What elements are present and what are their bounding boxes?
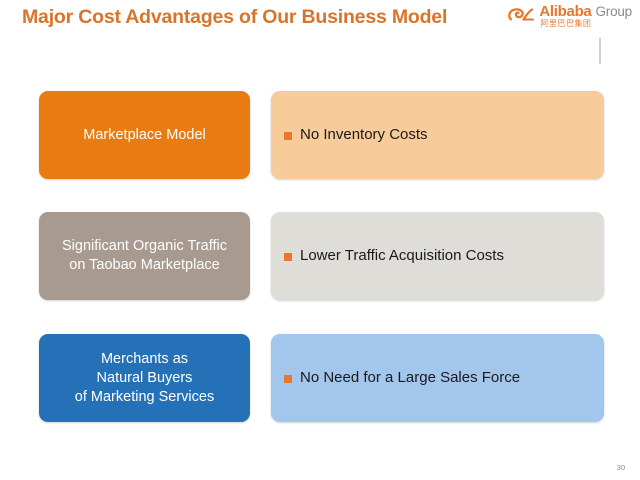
category-box-marketplace-model: Marketplace Model [39,91,250,179]
alibaba-group-logo: Alibaba Group 阿里巴巴集团 [507,4,632,34]
advantage-row: Significant Organic Traffic on Taobao Ma… [0,212,640,300]
slide: Major Cost Advantages of Our Business Mo… [0,0,640,480]
category-label: Significant Organic Traffic on Taobao Ma… [62,237,227,275]
logo-suffix-text: Group [595,5,632,19]
category-box-organic-traffic: Significant Organic Traffic on Taobao Ma… [39,212,250,300]
advantage-row: Merchants as Natural Buyers of Marketing… [0,334,640,422]
logo-brand-text: Alibaba [539,4,591,19]
benefit-label: No Need for a Large Sales Force [300,369,520,387]
category-label: Merchants as Natural Buyers of Marketing… [75,350,214,407]
square-bullet-icon [284,375,292,383]
square-bullet-icon [284,132,292,140]
logo-chinese-text: 阿里巴巴集团 [540,20,632,28]
alibaba-swirl-icon [507,4,537,26]
header-divider-tick [599,38,601,64]
category-box-merchants-natural-buyers: Merchants as Natural Buyers of Marketing… [39,334,250,422]
category-label: Marketplace Model [83,126,206,145]
benefit-box-no-inventory-costs: No Inventory Costs [271,91,604,179]
benefit-label: Lower Traffic Acquisition Costs [300,247,504,265]
logo-wordmark: Alibaba Group 阿里巴巴集团 [539,4,632,28]
benefit-label: No Inventory Costs [300,126,428,144]
page-number: 30 [617,463,625,472]
benefit-box-no-large-sales-force: No Need for a Large Sales Force [271,334,604,422]
advantage-row: Marketplace Model No Inventory Costs [0,91,640,179]
page-title: Major Cost Advantages of Our Business Mo… [22,6,447,29]
benefit-box-lower-traffic-acquisition-costs: Lower Traffic Acquisition Costs [271,212,604,300]
square-bullet-icon [284,253,292,261]
